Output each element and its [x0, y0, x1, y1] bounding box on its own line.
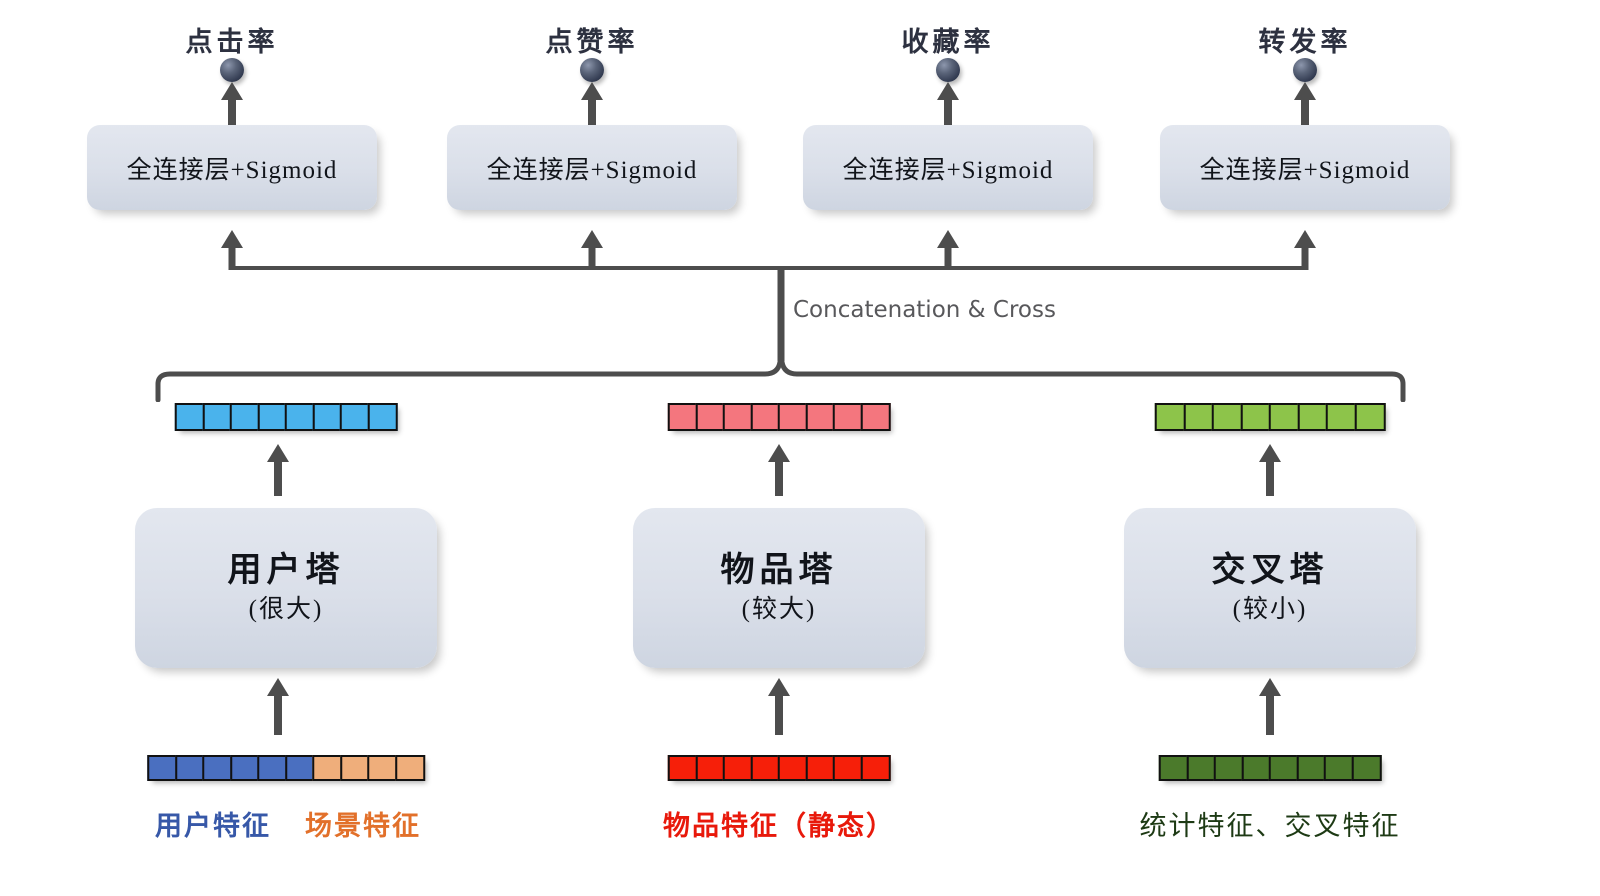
tower-box-user[interactable]: 用户塔 (很大): [135, 508, 437, 668]
vector-cell: [805, 755, 835, 781]
vector-cell: [805, 403, 835, 431]
arrow-head-share: [1294, 82, 1316, 100]
fc-box-like[interactable]: 全连接层+Sigmoid: [447, 125, 737, 210]
bus-arrow-ctr: [221, 230, 243, 248]
vector-cell: [1269, 403, 1300, 431]
output-label-like: 点赞率: [546, 20, 639, 59]
vector-cell: [1269, 755, 1299, 781]
fc-box-share[interactable]: 全连接层+Sigmoid: [1160, 125, 1450, 210]
caption-scene-features: 场景特征: [305, 804, 421, 843]
vector-cell: [1297, 403, 1328, 431]
distribution-bus: [229, 266, 1308, 270]
item-input-vector: [668, 755, 891, 781]
vector-cell: [668, 755, 698, 781]
tower-size-cross: (较小): [1233, 596, 1308, 623]
vector-cell: [1326, 403, 1357, 431]
fc-box-label-share: 全连接层+Sigmoid: [1200, 150, 1411, 186]
vector-cell: [202, 755, 232, 781]
user-tower-out-arrow: [267, 444, 289, 462]
vector-cell: [1296, 755, 1326, 781]
tower-size-item: (较大): [742, 596, 817, 623]
user-tower-in-arrow: [267, 678, 289, 696]
vector-cell: [367, 403, 397, 431]
vector-cell: [723, 403, 753, 431]
merge-brace: [150, 352, 1410, 402]
vector-cell: [1324, 755, 1354, 781]
tower-title-cross: 交叉塔: [1212, 553, 1329, 590]
cross-input-vector: [1159, 755, 1382, 781]
item-tower-in-shaft: [775, 695, 783, 735]
arrow-head-like: [581, 82, 603, 100]
vector-cell: [695, 755, 725, 781]
output-label-ctr: 点击率: [186, 20, 279, 59]
vector-cell: [175, 403, 205, 431]
arrow-head-fav: [937, 82, 959, 100]
tower-box-item[interactable]: 物品塔 (较大): [633, 508, 925, 668]
vector-cell: [340, 755, 370, 781]
fc-box-label-fav: 全连接层+Sigmoid: [843, 150, 1054, 186]
vector-cell: [230, 755, 260, 781]
output-node-like: [580, 58, 604, 82]
vector-cell: [1183, 403, 1214, 431]
vector-cell: [778, 755, 808, 781]
vector-cell: [1159, 755, 1189, 781]
item-tower-out-arrow: [768, 444, 790, 462]
vector-cell: [312, 755, 342, 781]
tower-size-user: (很大): [249, 596, 324, 623]
vector-cell: [312, 403, 342, 431]
vector-cell: [860, 403, 890, 431]
vector-cell: [833, 403, 863, 431]
arrow-shaft-like: [588, 96, 596, 126]
diagram-canvas: 点击率 点赞率 收藏率 转发率 全连接层+Sigmoid 全连接层+Sigmoi…: [0, 0, 1600, 896]
fc-box-ctr[interactable]: 全连接层+Sigmoid: [87, 125, 377, 210]
arrow-shaft-ctr: [228, 96, 236, 126]
vector-cell: [175, 755, 205, 781]
vector-cell: [285, 403, 315, 431]
tower-title-user: 用户塔: [228, 553, 345, 590]
item-tower-out-shaft: [775, 460, 783, 496]
vector-cell: [1212, 403, 1243, 431]
vector-cell: [340, 403, 370, 431]
vector-cell: [750, 403, 780, 431]
fc-box-label-like: 全连接层+Sigmoid: [487, 150, 698, 186]
vector-cell: [257, 403, 287, 431]
cross-tower-in-arrow: [1259, 678, 1281, 696]
vector-cell: [285, 755, 315, 781]
bus-arrow-like: [581, 230, 603, 248]
item-tower-in-arrow: [768, 678, 790, 696]
fc-box-label-ctr: 全连接层+Sigmoid: [127, 150, 338, 186]
output-node-fav: [936, 58, 960, 82]
item-embedding-vector: [668, 403, 891, 431]
vector-cell: [723, 755, 753, 781]
vector-cell: [695, 403, 725, 431]
vector-cell: [1214, 755, 1244, 781]
output-node-share: [1293, 58, 1317, 82]
user-tower-out-shaft: [274, 460, 282, 496]
vector-cell: [833, 755, 863, 781]
output-node-ctr: [220, 58, 244, 82]
arrow-shaft-share: [1301, 96, 1309, 126]
vector-cell: [1186, 755, 1216, 781]
vector-cell: [1351, 755, 1381, 781]
cross-tower-in-shaft: [1266, 695, 1274, 735]
vector-cell: [1354, 403, 1385, 431]
output-label-fav: 收藏率: [902, 20, 995, 59]
user-tower-in-shaft: [274, 695, 282, 735]
cross-tower-out-shaft: [1266, 460, 1274, 496]
tower-box-cross[interactable]: 交叉塔 (较小): [1124, 508, 1416, 668]
vector-cell: [1240, 403, 1271, 431]
vector-cell: [257, 755, 287, 781]
vector-cell: [1155, 403, 1186, 431]
concat-trunk: [778, 266, 785, 361]
cross-tower-out-arrow: [1259, 444, 1281, 462]
tower-title-item: 物品塔: [721, 553, 838, 590]
vector-cell: [147, 755, 177, 781]
concat-label: Concatenation & Cross: [793, 297, 1056, 323]
vector-cell: [778, 403, 808, 431]
caption-user-features: 用户特征: [155, 804, 271, 843]
caption-cross-features: 统计特征、交叉特征: [1140, 804, 1401, 843]
cross-embedding-vector: [1155, 403, 1386, 431]
arrow-head-ctr: [221, 82, 243, 100]
vector-cell: [230, 403, 260, 431]
bus-arrow-fav: [937, 230, 959, 248]
arrow-shaft-fav: [944, 96, 952, 126]
fc-box-fav[interactable]: 全连接层+Sigmoid: [803, 125, 1093, 210]
vector-cell: [202, 403, 232, 431]
vector-cell: [395, 755, 425, 781]
user-embedding-vector: [175, 403, 398, 431]
caption-item-features: 物品特征（静态）: [663, 804, 895, 843]
output-label-share: 转发率: [1259, 20, 1352, 59]
vector-cell: [367, 755, 397, 781]
vector-cell: [1241, 755, 1271, 781]
vector-cell: [668, 403, 698, 431]
vector-cell: [750, 755, 780, 781]
vector-cell: [860, 755, 890, 781]
bus-arrow-share: [1294, 230, 1316, 248]
user-input-vector: [147, 755, 425, 781]
